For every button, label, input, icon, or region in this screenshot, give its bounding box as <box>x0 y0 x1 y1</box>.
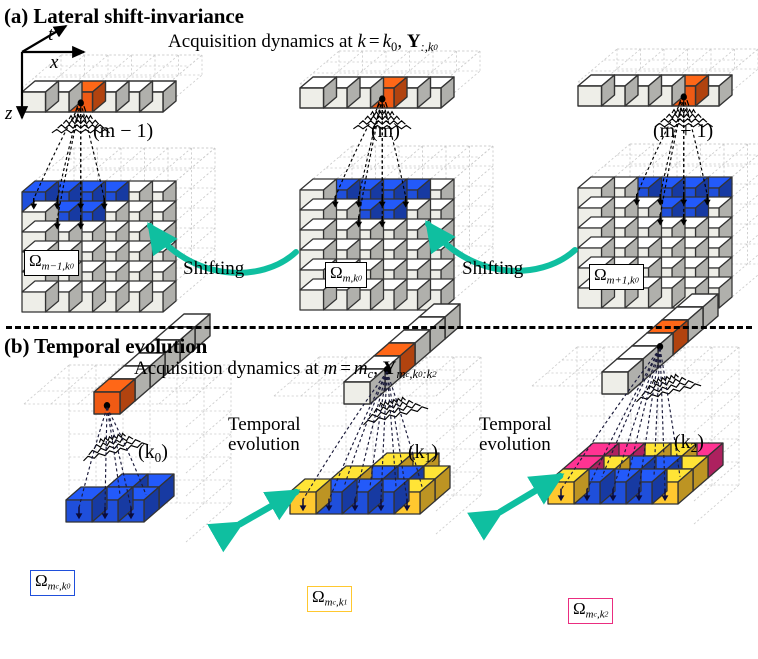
axis-label-z: z <box>5 103 12 125</box>
element-label-text: (k <box>674 431 691 453</box>
omega-base: Ω <box>29 251 42 270</box>
panel-b-subtitle-var: m <box>323 358 337 379</box>
panel-b-subtitle: Acquisition dynamics at m=mc, Ymc,k0:k2 <box>134 358 437 382</box>
omega-base: Ω <box>312 587 325 606</box>
omega-sub2: 0 <box>358 274 362 283</box>
arrow-label-line1: Temporal <box>479 415 552 435</box>
panel-b-subtitle-lead: Acquisition dynamics at <box>134 358 319 379</box>
omega-label-m-minus-1: Ωm−1,k0 <box>24 250 79 276</box>
panel-a-tag: (a) <box>4 4 28 28</box>
element-label-k2: (k2) <box>674 431 704 456</box>
panel-a-subtitle: Acquisition dynamics at k=k0, Y:,k0 <box>168 31 438 55</box>
omega-base: Ω <box>594 265 607 284</box>
panel-a-subtitle-tensor-sub: :,k <box>421 40 434 54</box>
omega-sub-k: ,k <box>597 608 605 620</box>
omega-sub: m,k <box>343 272 358 284</box>
figure-canvas <box>0 0 758 659</box>
panel-b-title-text: Temporal evolution <box>34 334 207 358</box>
omega-label-k0: Ωmc,k0 <box>30 570 75 596</box>
panel-b-tag: (b) <box>4 334 29 358</box>
panel-b-subtitle-tensor: Y <box>383 358 397 379</box>
omega-sub2: 2 <box>605 610 609 619</box>
panel-a-subtitle-lead: Acquisition dynamics at <box>168 31 353 52</box>
element-label-m-minus-1: (m − 1) <box>93 120 153 143</box>
panel-a-subtitle-var: k <box>357 31 365 52</box>
omega-sub-k: ,k <box>336 596 344 608</box>
panel-b-subtitle-tensor-sub6: 2 <box>432 369 436 379</box>
panel-a-subtitle-tensor: Y <box>407 31 421 52</box>
element-label-m-plus-1: (m + 1) <box>653 120 713 143</box>
arrow-label-line2: evolution <box>479 435 552 455</box>
omega-base: Ω <box>330 263 343 282</box>
panel-a-subtitle-value: k <box>383 31 391 52</box>
arrow-label-temporal-1: Temporal evolution <box>228 415 301 455</box>
omega-sub2: 0 <box>70 262 74 271</box>
panel-a-subtitle-comma: , <box>397 31 402 52</box>
omega-sub: m+1,k <box>607 274 635 286</box>
element-label-end: ) <box>161 441 168 463</box>
panel-b-subtitle-tensor-sub5: :k <box>422 367 432 381</box>
arrow-label-shifting-2: Shifting <box>462 258 523 280</box>
axis-label-x: x <box>50 52 58 74</box>
omega-label-m: Ωm,k0 <box>325 262 367 288</box>
omega-sub: m <box>325 596 333 608</box>
panel-b-subtitle-comma: , <box>373 358 378 379</box>
figure-root: (a) Lateral shift-invariance Acquisition… <box>0 0 758 659</box>
omega-sub: m <box>48 580 56 592</box>
omega-base: Ω <box>573 599 586 618</box>
arrow-label-line2: evolution <box>228 435 301 455</box>
panel-a-title: (a) Lateral shift-invariance <box>4 4 244 29</box>
arrow-label-line1: Temporal <box>228 415 301 435</box>
panel-b-title: (b) Temporal evolution <box>4 334 207 359</box>
omega-sub: m <box>586 608 594 620</box>
panel-b-subtitle-tensor-sub: m <box>396 367 405 381</box>
omega-sub2: 0 <box>67 582 71 591</box>
omega-sub: m−1,k <box>42 260 70 272</box>
omega-sub2: 1 <box>344 598 348 607</box>
element-label-end: ) <box>697 431 704 453</box>
panel-b-subtitle-eq: = <box>337 358 354 379</box>
element-label-m: (m) <box>371 120 400 143</box>
axis-label-t: t <box>48 24 53 46</box>
omega-base: Ω <box>35 571 48 590</box>
omega-label-k1: Ωmc,k1 <box>307 586 352 612</box>
panel-a-subtitle-tensor-sub2: 0 <box>433 42 437 52</box>
omega-label-k2: Ωmc,k2 <box>568 598 613 624</box>
omega-sub2: 0 <box>635 276 639 285</box>
element-label-k1: (k1) <box>408 441 438 466</box>
panel-divider <box>6 326 752 329</box>
panel-b-subtitle-value: m <box>354 358 368 379</box>
element-label-end: ) <box>431 441 438 463</box>
arrow-label-temporal-2: Temporal evolution <box>479 415 552 455</box>
panel-b-subtitle-tensor-sub3: ,k <box>409 367 418 381</box>
omega-sub-k: ,k <box>59 580 67 592</box>
omega-label-m-plus-1: Ωm+1,k0 <box>589 264 644 290</box>
panel-a-title-text: Lateral shift-invariance <box>33 4 243 28</box>
panel-a-subtitle-eq: = <box>366 31 383 52</box>
arrow-label-shifting-1: Shifting <box>183 258 244 280</box>
element-label-k0: (k0) <box>138 441 168 466</box>
element-label-text: (k <box>138 441 155 463</box>
element-label-text: (k <box>408 441 425 463</box>
